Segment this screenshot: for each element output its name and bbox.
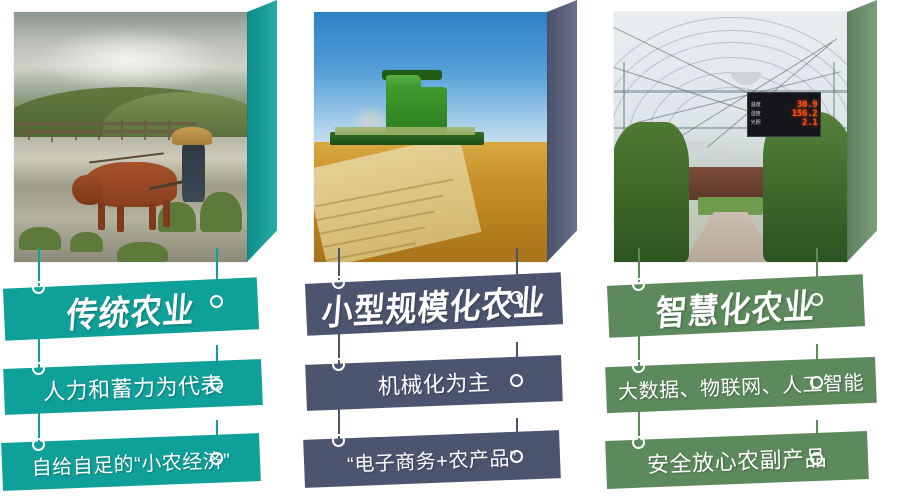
led-label-illumination: 光照 (751, 121, 761, 126)
combine-harvester-wheat-field-photo (314, 12, 547, 262)
stage-point-label-1: 大数据、物联网、人工智能 (606, 365, 877, 404)
photo-slab-shade-traditional (247, 0, 277, 262)
connector-ring-point2-right (210, 452, 223, 465)
connector-ring-point1-left (632, 360, 645, 373)
connector-ring-title-right (210, 295, 223, 308)
connector-ring-title-left (332, 276, 345, 289)
connector-line-title-left (638, 248, 640, 282)
photo-frame-traditional (14, 12, 247, 262)
photo-slab-shade-small-scale (547, 0, 577, 262)
photo-slab-shade-smart (847, 0, 877, 262)
connector-ring-title-left (632, 278, 645, 291)
connector-ring-point2-left (632, 436, 645, 449)
led-value-illumination: 2.1 (802, 119, 817, 128)
stage-point-label-2: 安全放心农副产品 (605, 439, 868, 481)
stage-column-small-scale: 小型规模化农业 机械化为主 “电子商务+农产品” (300, 0, 600, 500)
connector-ring-point2-right (510, 450, 523, 463)
connector-ring-title-right (810, 293, 823, 306)
stage-point-banner-1-smart[interactable]: 大数据、物联网、人工智能 (605, 357, 877, 413)
stage-column-smart: 温度 30.9 湿度 156.2 光照 2.1 (600, 0, 900, 500)
photo-frame-small-scale (314, 12, 547, 262)
connector-ring-point1-right (210, 378, 223, 391)
connector-ring-point1-right (510, 374, 523, 387)
photo-frame-smart: 温度 30.9 湿度 156.2 光照 2.1 (614, 12, 847, 262)
connector-ring-point2-right (810, 452, 823, 465)
ox-plough-rice-paddy-photo (14, 12, 247, 262)
stage-title-label: 智慧化农业 (606, 275, 866, 337)
connector-ring-point1-left (32, 362, 45, 375)
connector-ring-point2-left (332, 434, 345, 447)
stage-title-banner-smart[interactable]: 智慧化农业 (607, 274, 865, 338)
connector-ring-title-left (32, 281, 45, 294)
stage-point-label-1: 机械化为主 (305, 362, 562, 404)
connector-ring-point2-left (32, 438, 45, 451)
connector-ring-title-right (510, 291, 523, 304)
infographic-canvas: 传统农业 人力和蓄力为代表 自给自足的“小农经济” (0, 0, 900, 500)
led-label-temperature: 温度 (751, 103, 761, 108)
connector-ring-point1-left (332, 358, 345, 371)
led-row-illumination: 光照 2.1 (751, 119, 818, 128)
led-label-humidity: 湿度 (751, 112, 761, 117)
smart-greenhouse-photo: 温度 30.9 湿度 156.2 光照 2.1 (614, 12, 847, 262)
greenhouse-led-display: 温度 30.9 湿度 156.2 光照 2.1 (747, 92, 822, 137)
connector-ring-point1-right (810, 376, 823, 389)
stage-column-traditional: 传统农业 人力和蓄力为代表 自给自足的“小农经济” (0, 0, 300, 500)
